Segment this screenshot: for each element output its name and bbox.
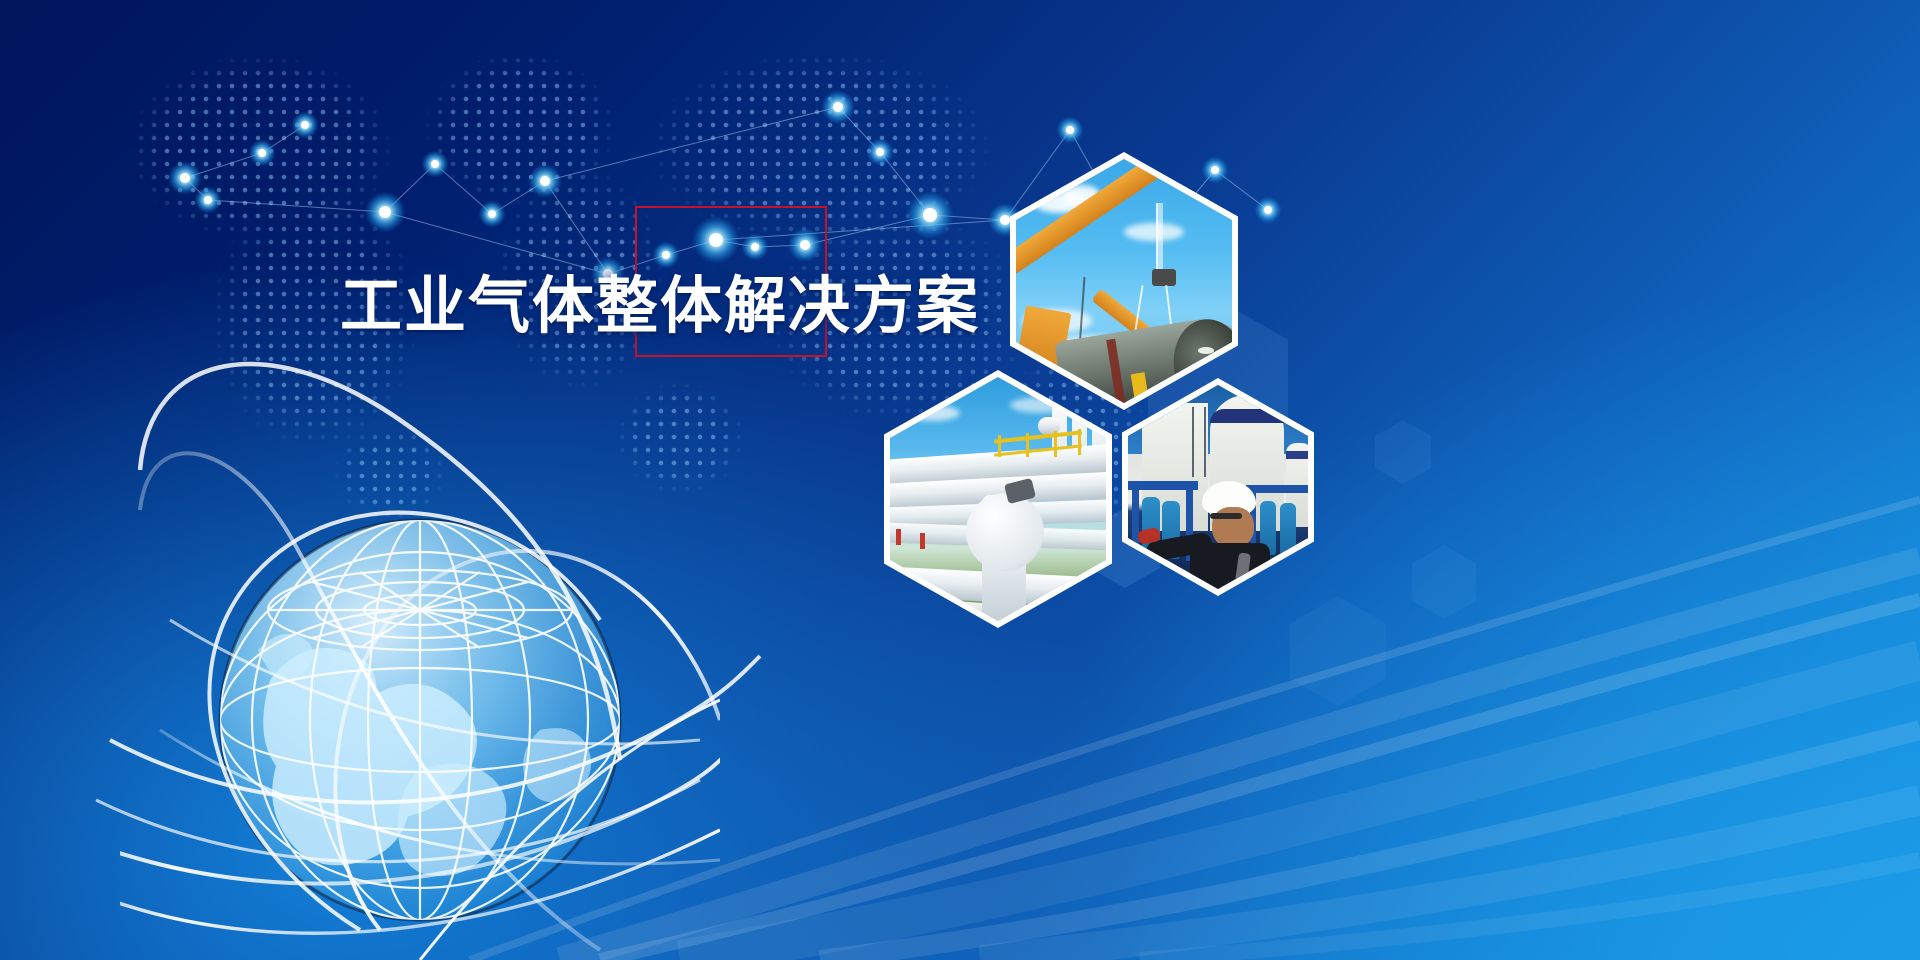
banner-root: 工业气体整体解决方案 bbox=[0, 0, 1920, 960]
page-title: 工业气体整体解决方案 bbox=[340, 255, 980, 345]
hexagon-photo-pipelines-image bbox=[890, 377, 1106, 621]
hexagon-photo-crane-image bbox=[1016, 159, 1232, 403]
hexagon-photo-worker-image bbox=[1128, 385, 1308, 589]
